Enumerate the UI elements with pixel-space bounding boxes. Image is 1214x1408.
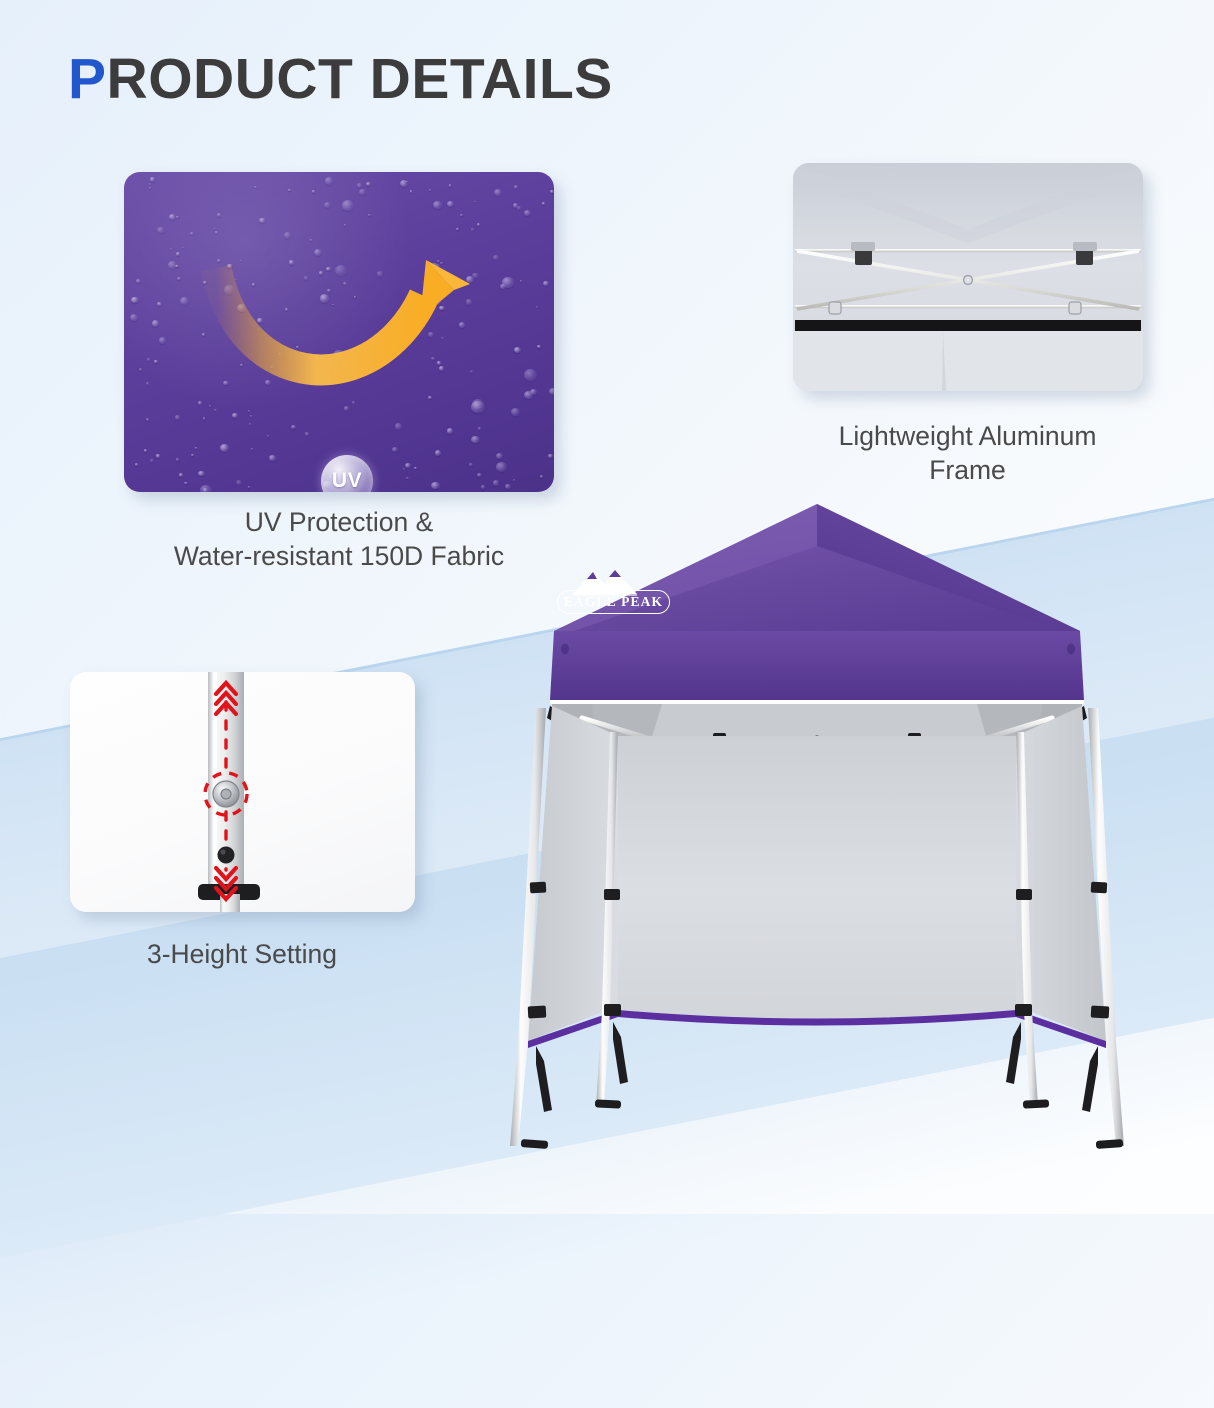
feature-image-height-setting (70, 672, 415, 912)
leg-post-icon (70, 672, 415, 912)
brand-logo-label-box: EAGLE PEAK (557, 590, 670, 614)
push-button-icon (218, 847, 235, 864)
feature-caption-aluminum-frame: Lightweight Aluminum Frame (760, 420, 1175, 488)
canopy-tent-icon (432, 486, 1202, 1186)
feature-image-uv-fabric: UV (124, 172, 554, 492)
page-title: PRODUCT DETAILS (68, 46, 613, 112)
frame-caption-line-2: Frame (760, 454, 1175, 488)
frame-caption-line-1: Lightweight Aluminum (760, 420, 1175, 454)
uv-badge-label: UV (332, 469, 362, 492)
height-caption-line-1: 3-Height Setting (72, 938, 412, 972)
page-title-rest: RODUCT DETAILS (107, 47, 613, 111)
x-truss-frame-icon (793, 163, 1143, 391)
product-image-canopy-tent: EAGLE PEAK (432, 486, 1202, 1186)
feature-image-aluminum-frame (793, 163, 1143, 391)
uv-deflection-arrow-icon (124, 172, 554, 492)
brand-name: EAGLE PEAK (564, 594, 663, 610)
page-title-lead-letter: P (68, 47, 107, 111)
feature-caption-height-setting: 3-Height Setting (72, 938, 412, 972)
